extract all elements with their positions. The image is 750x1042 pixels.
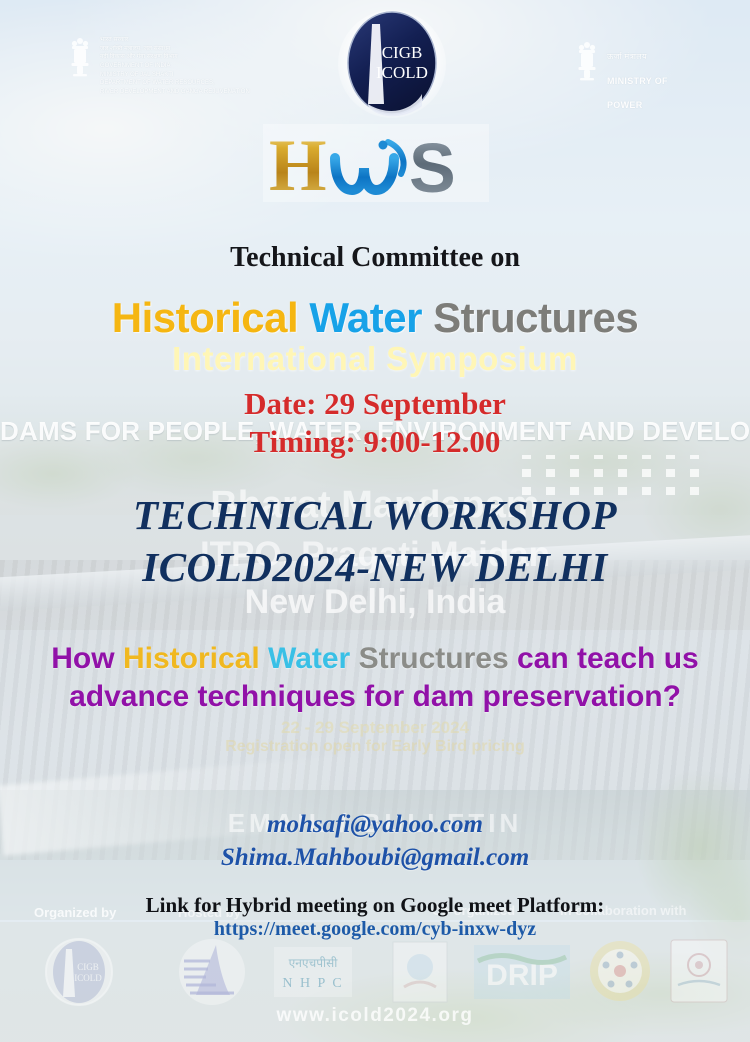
cigb-icold-logo: CIGB ICOLD [42, 937, 116, 1007]
title-word-structures: Structures [433, 294, 638, 341]
emblem-left-text: भारत सरकार जल शक्ति मंत्रालय, जल संसाधन … [100, 36, 250, 97]
title-word-historical: Historical [112, 294, 298, 341]
contact-emails: mohsafi@yahoo.com Shima.Mahboubi@gmail.c… [0, 808, 750, 875]
question-prefix: How [51, 642, 123, 675]
ministry-hindi-label: ऊर्जा मंत्रालय [607, 52, 668, 63]
ashoka-emblem-icon [575, 40, 599, 86]
icold-logo-line1: CIGB [382, 43, 423, 62]
page-title: Historical Water Structures [0, 294, 750, 342]
committee-line: Technical Committee on [0, 242, 750, 274]
drip-logo: DRIP [474, 945, 570, 999]
svg-text:ICOLD: ICOLD [74, 973, 102, 983]
workshop-title-line2: ICOLD2024-NEW DELHI [0, 541, 750, 593]
hws-letter-h: H [269, 125, 327, 207]
event-date: Date: 29 September [0, 385, 750, 423]
partner-logo-6 [588, 939, 652, 1003]
workshop-question: How Historical Water Structures can teac… [42, 640, 708, 716]
incold-dam-logo [176, 937, 248, 1007]
event-timing: Timing: 9:00-12.00 [0, 423, 750, 461]
question-word-water: Water [268, 642, 350, 675]
workshop-title-block: TECHNICAL WORKSHOP ICOLD2024-NEW DELHI [0, 489, 750, 594]
icold-logo-line2: ICOLD [376, 63, 428, 82]
question-word-historical: Historical [123, 642, 260, 675]
poster-canvas: International Symposium DAMS FOR PEOPLE,… [0, 0, 750, 1042]
svg-text:एनएचपीसी: एनएचपीसी [289, 956, 339, 970]
title-word-water: Water [309, 294, 422, 341]
ministry-of-power-text: ऊर्जा मंत्रालय MINISTRY OF POWER [607, 40, 668, 124]
ashoka-emblem-icon [68, 36, 92, 82]
google-meet-label: Link for Hybrid meeting on Google meet P… [0, 893, 750, 918]
cigb-icold-oval-logo: CIGB ICOLD [338, 8, 446, 120]
contact-email-2[interactable]: Shima.Mahboubi@gmail.com [0, 841, 750, 874]
workshop-title-line1: TECHNICAL WORKSHOP [0, 489, 750, 541]
hws-letter-s: S [409, 129, 456, 207]
partner-logo-4 [392, 941, 448, 1003]
ministry-line-1: MINISTRY OF [607, 75, 668, 87]
contact-email-1[interactable]: mohsafi@yahoo.com [0, 808, 750, 841]
svg-text:CIGB: CIGB [77, 962, 99, 972]
ministry-of-power-emblem-right: ऊर्जा मंत्रालय MINISTRY OF POWER [575, 40, 745, 100]
svg-text:N H P C: N H P C [282, 976, 343, 991]
government-of-india-emblem-left: भारत सरकार जल शक्ति मंत्रालय, जल संसाधन … [68, 36, 298, 96]
partner-logo-strip: CIGB ICOLD एनएचपीसी N H P C [0, 925, 750, 1010]
hws-wordmark-logo: H S [0, 118, 750, 214]
ministry-line-2: POWER [607, 99, 668, 111]
partner-logo-7 [670, 939, 728, 1003]
question-word-structures: Structures [359, 642, 509, 675]
nhpc-logo: एनएचपीसी N H P C [274, 947, 352, 997]
date-time-block: Date: 29 September Timing: 9:00-12.00 [0, 385, 750, 461]
